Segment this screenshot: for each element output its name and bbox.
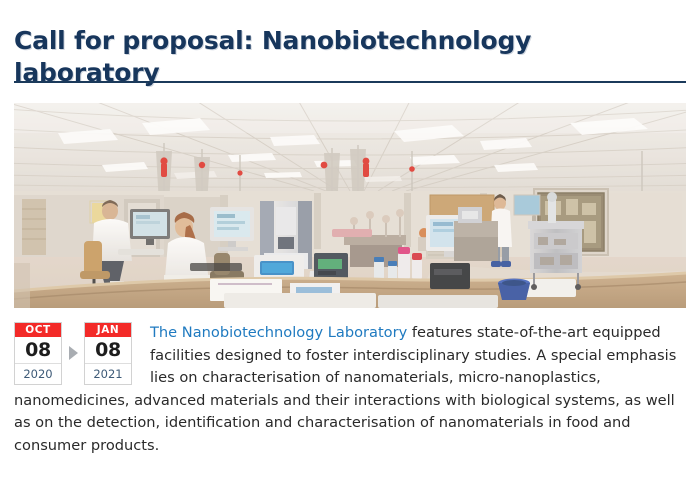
hero-image [14,103,686,308]
date-badge-spacer [14,322,150,388]
nanobiotechnology-laboratory-link[interactable]: The Nanobiotechnology Laboratory [150,324,407,341]
laboratory-photo [14,103,686,308]
article-page: Call for proposal: Nanobiotechnology lab… [0,0,700,484]
article-body: The Nanobiotechnology Laboratory feature… [14,322,686,458]
title-divider [14,81,686,83]
page-title: Call for proposal: Nanobiotechnology lab… [14,25,614,89]
